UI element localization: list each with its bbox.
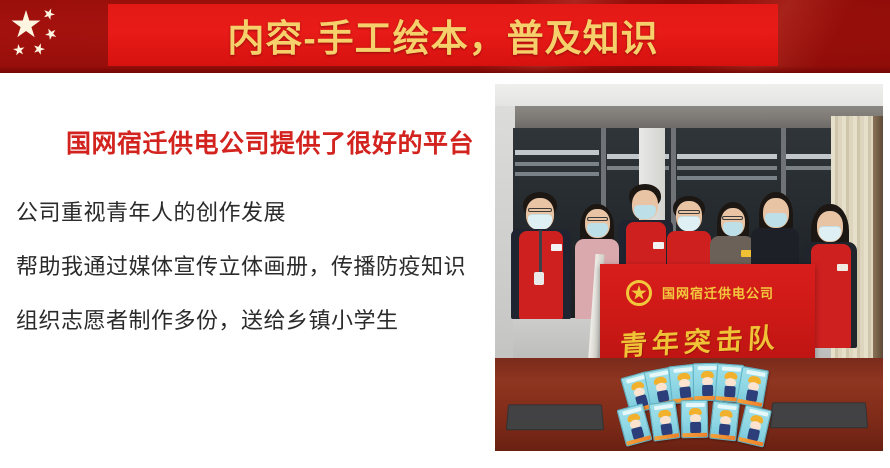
star-small-4-icon xyxy=(12,43,26,57)
company-star-logo-icon xyxy=(626,280,652,306)
content-bullet-2: 帮助我通过媒体宣传立体画册，传播防疫知识 xyxy=(16,249,466,281)
content-headline: 国网宿迁供电公司提供了很好的平台 xyxy=(66,124,474,160)
photo-booklet xyxy=(736,366,769,408)
person-mask xyxy=(528,214,552,229)
header-bottom-shadow xyxy=(0,66,890,73)
star-small-1-icon xyxy=(41,6,57,22)
banner-company-text: 国网宿迁供电公司 xyxy=(662,283,774,302)
photo-blind-slat xyxy=(677,154,777,159)
photo-booklet xyxy=(709,401,740,442)
group-photo: 国网宿迁供电公司 青年突击队 xyxy=(495,84,883,451)
person-glasses xyxy=(528,208,552,212)
banner-team-text: 青年突击队 xyxy=(619,316,781,364)
photo-blind-slat xyxy=(785,154,831,159)
person-badge xyxy=(551,244,562,251)
text-column: 国网宿迁供电公司提供了很好的平台 公司重视青年人的创作发展 帮助我通过媒体宣传立… xyxy=(0,82,490,462)
slide: 内容-手工绘本，普及知识 国网宿迁供电公司提供了很好的平台 公司重视青年人的创作… xyxy=(0,0,890,468)
photo-blind-slat xyxy=(677,166,777,170)
person-badge xyxy=(837,264,848,271)
photo-booklet xyxy=(737,404,772,447)
content-bullet-1: 公司重视青年人的创作发展 xyxy=(16,195,286,227)
content-bullet-3: 组织志愿者制作多份，送给乡镇小学生 xyxy=(16,303,399,335)
person-glasses xyxy=(678,210,700,214)
photo-ceiling-beam xyxy=(495,106,883,128)
page-title: 内容-手工绘本，普及知识 xyxy=(108,4,778,66)
photo-blind-slat xyxy=(677,176,777,180)
photo-blind-slat xyxy=(515,150,599,155)
slide-footer xyxy=(0,452,890,468)
photo-blind-slat xyxy=(515,162,599,166)
person-lanyard xyxy=(539,230,542,272)
person-id-card xyxy=(534,272,544,285)
china-flag-stars-icon xyxy=(0,0,108,73)
photo-table xyxy=(495,358,883,451)
photo-booklet xyxy=(648,400,680,441)
photo-blind-slat xyxy=(785,166,831,170)
person-mask xyxy=(819,226,841,241)
photo-desk-mat xyxy=(506,404,604,430)
person-glasses xyxy=(722,216,743,220)
person-glasses xyxy=(587,217,608,221)
header-banner: 内容-手工绘本，普及知识 xyxy=(0,0,890,73)
person-mask xyxy=(634,205,656,219)
person-mask xyxy=(765,213,787,227)
photo-booklet xyxy=(681,400,709,438)
photo-desk-mat xyxy=(770,402,868,428)
person-mask xyxy=(678,216,700,231)
photo-ceiling xyxy=(495,84,883,106)
person-badge xyxy=(653,242,664,249)
star-small-3-icon xyxy=(31,41,46,56)
photo-blind-slat xyxy=(515,172,599,176)
star-small-2-icon xyxy=(43,26,60,43)
person-vest xyxy=(811,244,851,348)
star-large-icon xyxy=(11,10,41,40)
